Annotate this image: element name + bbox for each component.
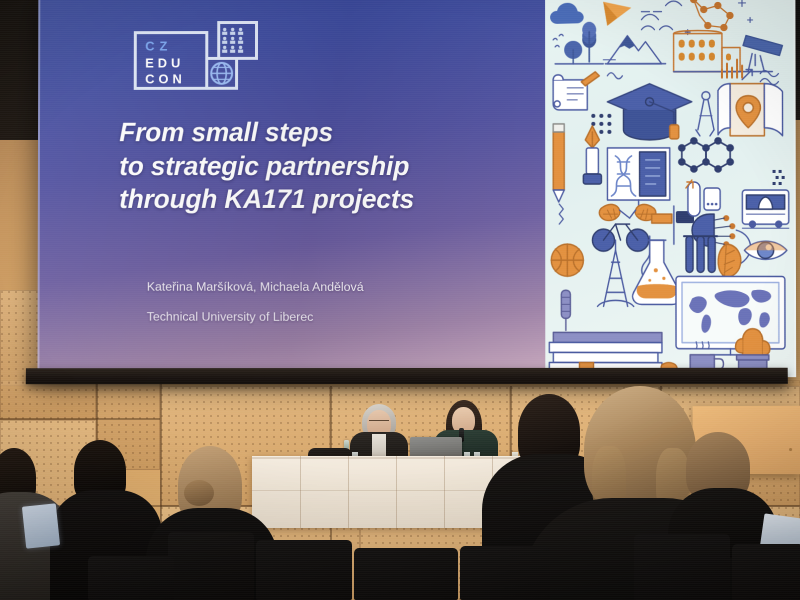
leaf-icon [599, 204, 655, 220]
thermometer-icon [561, 290, 570, 330]
slide-title-line-2: to strategic partnership [119, 150, 518, 184]
tablecloth-fold [348, 456, 349, 528]
auditorium-seat [256, 540, 352, 600]
auditorium-seat [354, 548, 458, 600]
slide-title-line-3: through KA171 projects [119, 183, 518, 217]
constellation-icon [691, 0, 733, 31]
checker-icon [773, 170, 785, 185]
pencil-icon [553, 124, 564, 202]
book-location-pin-icon [718, 84, 783, 136]
bar-chart-icon [722, 60, 742, 78]
paper-plane-icon [603, 2, 631, 26]
test-tubes-icon [684, 236, 717, 272]
scroll-icon [553, 72, 599, 110]
projection-screen: CZ EDU CON [37, 0, 796, 377]
svg-text:CON: CON [145, 71, 186, 86]
mountains-icon [603, 36, 665, 64]
presenter-left-glasses [369, 420, 389, 424]
lectern-screw [789, 448, 792, 451]
slide-illustration-panel [545, 0, 796, 377]
slide-text-panel: CZ EDU CON [37, 0, 545, 377]
auditorium-seat [460, 546, 550, 600]
slide-title-line-1: From small steps [119, 116, 518, 150]
presentation-slide: CZ EDU CON [37, 0, 796, 377]
leaf-icon [718, 244, 741, 278]
audience-hair-bun [184, 480, 214, 506]
zigzag-icon [559, 204, 563, 224]
svg-text:CZ: CZ [145, 39, 172, 54]
graduation-cap-icon [607, 84, 692, 140]
audience-member-6 [676, 432, 768, 548]
cz-educon-logo: CZ EDU CON [133, 20, 258, 100]
auditorium-seat [168, 532, 254, 600]
tablecloth-fold [444, 456, 445, 528]
tree-icon [555, 22, 603, 64]
bicycle-icon [592, 224, 648, 251]
colosseum-icon [674, 31, 743, 72]
molecule-icon [679, 138, 733, 172]
cloud-icon [550, 3, 584, 24]
bus-icon [742, 190, 788, 228]
globe-icon [211, 63, 232, 84]
auditorium-seat [732, 544, 800, 600]
telescope-icon [742, 35, 782, 71]
auditorium-seat [634, 534, 730, 600]
birds-icon [553, 34, 563, 47]
screen-bottom-bar [26, 368, 788, 384]
basketball-icon [551, 244, 583, 276]
audience-laptop-screen [22, 503, 60, 548]
tablecloth-fold [396, 456, 397, 528]
fountain-pen-icon [583, 126, 601, 184]
slide-affiliation: Technical University of Liberec [147, 310, 526, 325]
tablecloth-fold [300, 456, 301, 528]
wall-seam [0, 418, 160, 420]
waves-icon [607, 73, 622, 79]
slide-title: From small steps to strategic partnershi… [119, 116, 518, 217]
svg-text:EDU: EDU [145, 55, 184, 70]
conference-photo-scene: CZ EDU CON [0, 0, 800, 600]
people-grid-icon [222, 28, 243, 53]
compass-icon [696, 92, 714, 136]
auditorium-seat [88, 556, 174, 600]
slide-authors: Kateřina Maršíková, Michaela Andělová [147, 280, 526, 295]
waves-icon [641, 1, 681, 30]
